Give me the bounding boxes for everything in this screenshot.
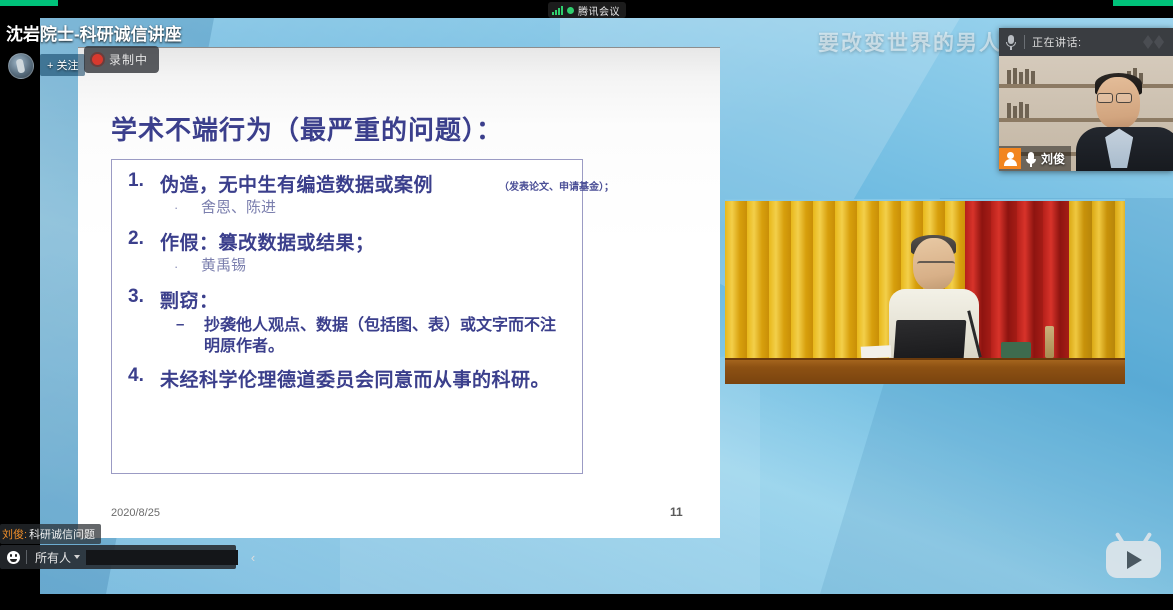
record-dot-icon	[92, 54, 103, 65]
laptop	[894, 320, 967, 358]
progress-bar-played[interactable]	[0, 0, 58, 6]
microphone-icon	[1025, 151, 1037, 167]
screen-root: 要改变世界的男人 学术不端行为（最严重的问题）： 1. 伪造，无中生有编造数据或…	[0, 0, 1173, 610]
slide-page-number: 11	[670, 505, 683, 519]
participant-glasses	[1097, 93, 1137, 104]
page-title: 沈岩院士-科研诚信讲座	[6, 20, 182, 45]
progress-bar-buffer[interactable]	[1113, 0, 1173, 6]
signal-bars-icon	[552, 6, 563, 15]
slide-sub-text: 舍恩、陈进	[201, 196, 276, 217]
follow-button[interactable]: + 关注	[40, 54, 85, 76]
active-speaker-panel[interactable]: 正在讲话:	[999, 28, 1173, 171]
stage-curtain-yellow	[1069, 201, 1125, 384]
letterbox-bottom	[0, 594, 1173, 610]
slide-item-note: （发表论文、申请基金）；	[499, 178, 614, 193]
shelf	[999, 84, 1173, 88]
chat-message-author: 刘俊:	[2, 526, 27, 542]
slide-sub-text: 抄袭他人观点、数据（包括图、表）或文字而不注	[204, 315, 556, 335]
slide-item-number: 4.	[128, 365, 144, 387]
slide-item-text: 伪造，无中生有编造数据或案例	[160, 170, 433, 197]
green-dot-icon	[567, 7, 574, 14]
letterbox-left	[0, 0, 40, 610]
slide-sub-marker: ·	[174, 200, 178, 215]
background-overlay-text: 要改变世界的男人	[818, 27, 1002, 57]
slide-date: 2020/8/25	[111, 507, 160, 519]
podium-desk	[725, 358, 1125, 384]
slide-item-text: 未经科学伦理德道委员会同意而从事的科研。	[160, 365, 550, 392]
slide-item-number: 1.	[128, 170, 144, 192]
participant-name-bar: 刘俊	[999, 146, 1071, 171]
shelf	[999, 118, 1173, 122]
chat-audience-label: 所有人	[35, 549, 71, 566]
slide-item-number: 2.	[128, 228, 144, 250]
slide-title: 学术不端行为（最严重的问题）：	[111, 110, 503, 147]
tencent-meeting-logo-icon	[1143, 33, 1169, 51]
chat-input-bar[interactable]: 所有人 ‹	[0, 545, 236, 569]
presentation-slide: 学术不端行为（最严重的问题）： 1. 伪造，无中生有编造数据或案例 （发表论文、…	[78, 47, 720, 538]
slide-sub-text: 黄禹锡	[201, 254, 246, 275]
collapse-chat-button[interactable]: ‹	[242, 550, 264, 565]
participant-video: 刘俊	[999, 56, 1173, 171]
chat-message-text: 科研诚信问题	[29, 526, 95, 542]
recording-label: 录制中	[109, 51, 148, 68]
books	[1007, 102, 1029, 118]
bilibili-logo-icon	[1106, 532, 1161, 578]
emoji-smiley-icon[interactable]	[0, 551, 26, 564]
slide-item-text: 作假：篡改数据或结果；	[160, 228, 375, 255]
chat-audience-selector[interactable]: 所有人	[27, 549, 86, 566]
slide-sub-marker: –	[176, 316, 184, 333]
slide-sub-marker: ·	[174, 259, 178, 274]
divider	[1024, 35, 1025, 49]
slide-item-number: 3.	[128, 286, 144, 308]
speaking-label: 正在讲话:	[1032, 34, 1082, 50]
papers	[861, 345, 892, 359]
slide-sub-text: 明原作者。	[204, 336, 284, 356]
water-bottle	[1045, 326, 1054, 358]
person-icon	[999, 148, 1021, 169]
slide-item-text: 剽窃：	[160, 286, 219, 313]
lecture-hall-video	[725, 199, 1125, 384]
participant-name: 刘俊	[1041, 150, 1065, 167]
recording-badge: 录制中	[84, 46, 159, 73]
avatar[interactable]	[8, 53, 34, 79]
speaker-glasses	[917, 261, 955, 269]
microphone-icon	[1005, 34, 1017, 50]
chevron-down-icon	[74, 555, 80, 559]
active-speaker-header: 正在讲话:	[999, 28, 1173, 56]
chat-message: 刘俊: 科研诚信问题	[0, 524, 101, 544]
books	[1007, 68, 1035, 84]
chat-input[interactable]	[86, 550, 238, 565]
app-name: 腾讯会议	[578, 3, 620, 18]
desk-object	[1001, 342, 1031, 358]
app-badge: 腾讯会议	[548, 2, 626, 18]
